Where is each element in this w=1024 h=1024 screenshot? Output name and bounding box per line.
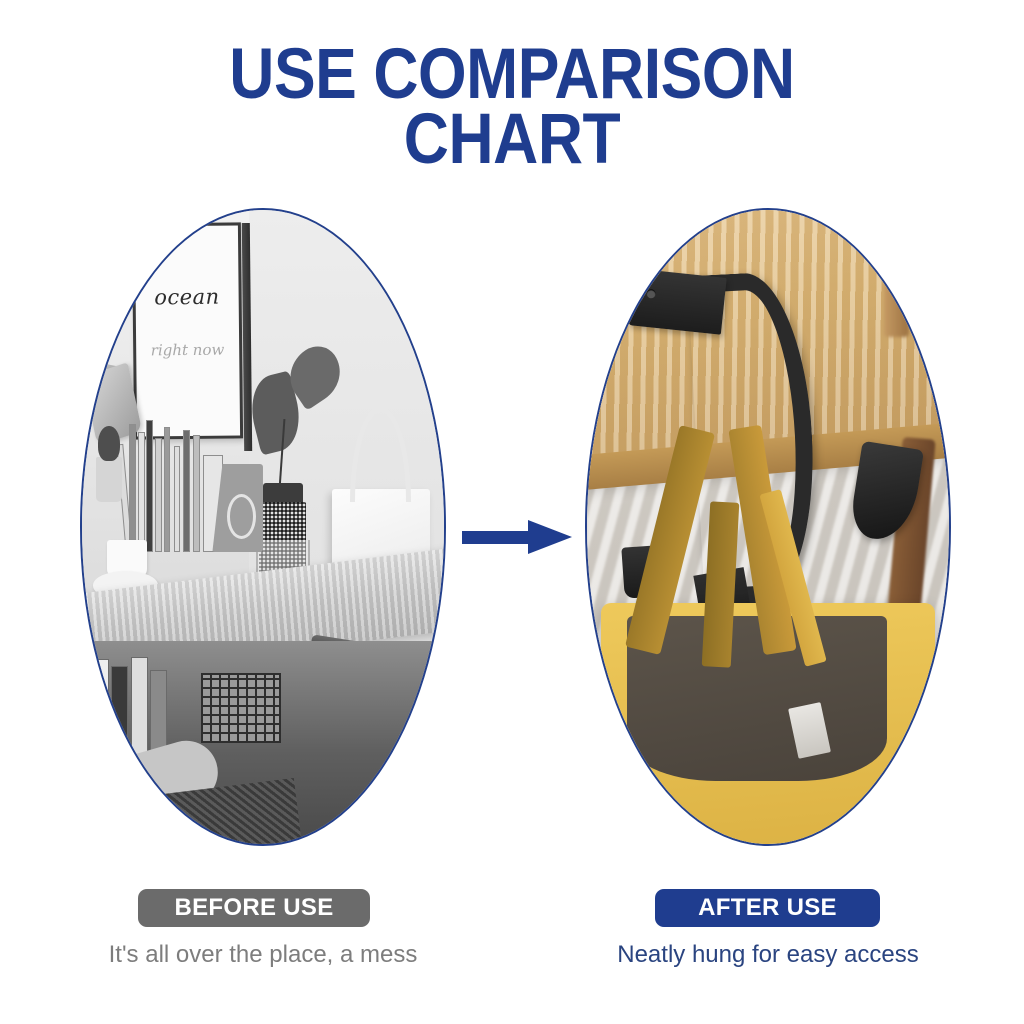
book [91,659,108,755]
book [146,420,153,552]
before-use-badge: BEFORE USE [138,889,370,927]
arrow-head [528,520,572,554]
purse-hook-top-plate [628,269,728,336]
before-photo-oval: ocean right now [80,208,446,846]
arrow-right-icon [462,520,572,554]
handbag-interior [627,616,888,781]
before-caption: It's all over the place, a mess [80,941,446,969]
arrow-shaft [462,531,534,544]
poster-text: ocean [135,284,238,309]
chair-leg-upper [884,261,909,337]
succulent-plant [96,457,121,501]
book [138,432,145,552]
book [193,435,200,552]
framed-poster: ocean right now [132,222,243,439]
after-panel [585,208,951,846]
page-title-line-2: CHART [61,107,962,172]
book [155,438,162,552]
after-photo-oval [585,208,951,846]
book [111,666,128,755]
after-caption: Neatly hung for easy access [585,941,951,969]
book [164,427,171,553]
book [174,446,181,552]
page-title: USE COMPARISON CHART [61,42,962,173]
comparison-infographic: USE COMPARISON CHART ocean right now [0,0,1024,1024]
poster-subtext: right now [136,340,239,359]
book [150,670,167,755]
before-photo: ocean right now [82,210,444,844]
wire-basket [201,673,281,743]
book [129,424,136,552]
after-use-badge: AFTER USE [655,889,880,927]
page-title-line-1: USE COMPARISON [61,42,962,107]
book [131,657,148,755]
after-photo [587,210,949,844]
book [183,430,190,553]
before-panel: ocean right now [80,208,446,846]
